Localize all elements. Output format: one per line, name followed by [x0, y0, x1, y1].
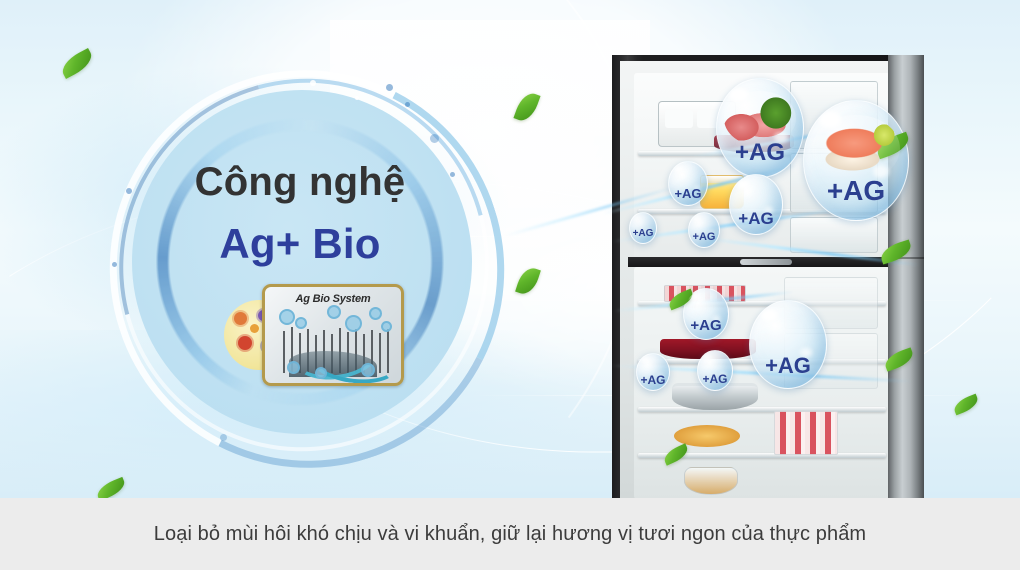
leaf-icon — [58, 48, 96, 79]
bubble-highlight — [634, 216, 640, 220]
ag-bubble-label: +AG — [702, 373, 727, 385]
water-highlight — [310, 80, 316, 86]
filter-panel: Ag Bio System — [262, 284, 404, 386]
bubble-dot — [345, 315, 362, 332]
ag-bubble: +AG — [636, 353, 670, 391]
water-droplet — [386, 84, 393, 91]
germ-dot — [238, 336, 252, 350]
promo-banner: Công nghệ Ag+ Bio Ag Bio System — [0, 0, 1020, 570]
bubble-dot — [279, 309, 295, 325]
water-highlight — [355, 96, 359, 100]
hero-image: Công nghệ Ag+ Bio Ag Bio System — [0, 0, 1020, 498]
ag-bubble: +AG — [629, 212, 657, 244]
ag-bio-system-badge: Ag Bio System — [252, 284, 398, 384]
page-title: Công nghệ — [100, 160, 500, 205]
ag-bubble: +AG — [729, 174, 783, 235]
water-ring-graphic: Công nghệ Ag+ Bio — [100, 62, 500, 462]
bubble-dot — [381, 321, 392, 332]
leaf-icon — [513, 90, 540, 124]
bubble-dot — [369, 307, 382, 320]
ag-bubble: +AG — [683, 288, 729, 340]
ag-bubble: +AG — [716, 78, 804, 178]
leaf-icon — [952, 394, 981, 416]
ag-bubble-label: +AG — [827, 177, 885, 205]
bubble-highlight — [674, 166, 682, 172]
germ-dot — [234, 312, 247, 325]
water-droplet — [220, 434, 227, 441]
bubble-highlight — [693, 216, 700, 221]
ag-bubble-label: +AG — [633, 229, 654, 239]
ag-bubble-label: +AG — [693, 232, 716, 243]
bubble-dot — [361, 363, 375, 377]
ag-bubble-label: +AG — [765, 355, 811, 377]
water-droplet — [405, 102, 410, 107]
page-subtitle: Ag+ Bio — [100, 220, 500, 268]
door-bin — [790, 217, 878, 253]
caption-text: Loại bỏ mùi hôi khó chịu và vi khuẩn, gi… — [154, 523, 866, 546]
ag-bubble: +AG — [749, 300, 827, 389]
ag-bubble: +AG — [697, 350, 733, 391]
bubble-highlight — [761, 309, 778, 321]
leaf-icon — [94, 477, 127, 498]
fridge-shelf — [638, 407, 886, 412]
bubble-highlight — [690, 293, 700, 300]
ag-bubble: +AG — [803, 100, 909, 221]
bubble-dot — [287, 361, 300, 374]
caption-bar: Loại bỏ mùi hôi khó chịu và vi khuẩn, gi… — [0, 498, 1020, 570]
leaf-icon — [515, 265, 541, 297]
bubble-highlight — [703, 354, 710, 359]
bubble-highlight — [641, 357, 648, 362]
ag-bubble-label: +AG — [738, 210, 773, 227]
door-handle — [740, 259, 792, 265]
germ-dot — [250, 324, 259, 333]
bubble-dot — [327, 305, 341, 319]
filter-fin — [283, 331, 285, 373]
meat-package — [774, 411, 838, 455]
bubble-highlight — [737, 180, 748, 188]
water-droplet — [430, 134, 439, 143]
ag-bubble-label: +AG — [640, 374, 665, 386]
bubble-dot — [295, 317, 307, 329]
badge-label: Ag Bio System — [265, 293, 401, 305]
bubble-highlight — [729, 88, 748, 102]
ag-bubble: +AG — [668, 161, 708, 206]
bubble-dot — [315, 367, 327, 379]
ag-bubble: +AG — [688, 212, 720, 248]
food-bowl — [684, 467, 738, 495]
ag-bubble-label: +AG — [674, 187, 701, 200]
ag-bubble-label: +AG — [690, 318, 721, 333]
ag-bubble-label: +AG — [735, 141, 785, 165]
